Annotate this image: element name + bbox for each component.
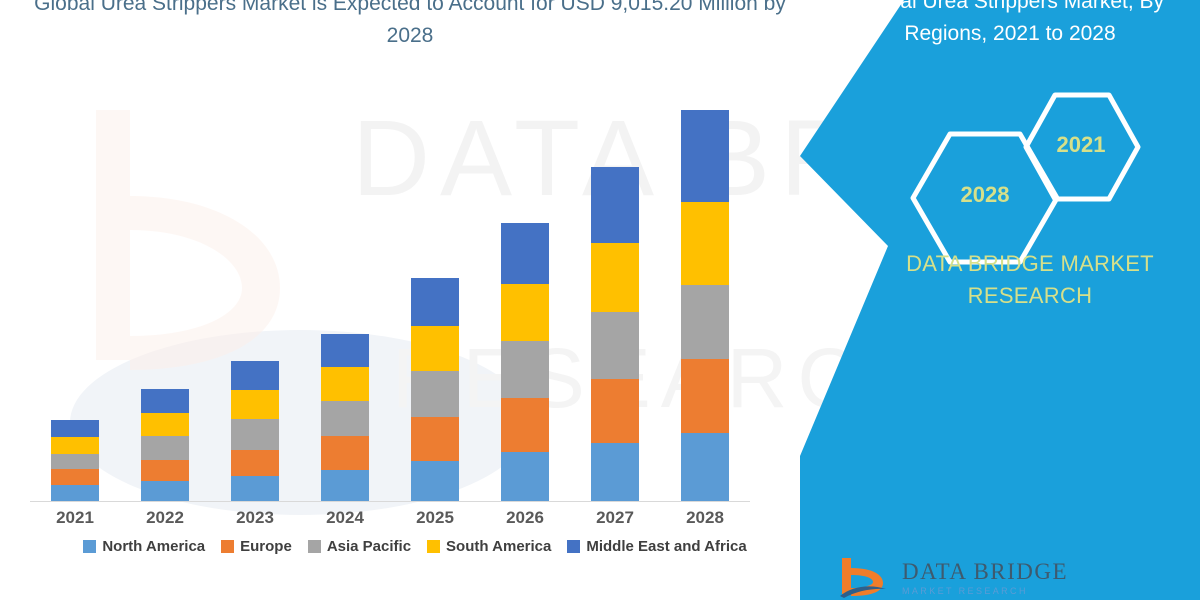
x-axis-labels: 20212022202320242025202620272028: [30, 508, 750, 528]
brand-tagline-line2: RESEARCH: [880, 280, 1180, 312]
legend-label: Middle East and Africa: [586, 538, 746, 555]
bar-segment: [591, 312, 639, 379]
bar-segment: [141, 460, 189, 481]
x-axis-label: 2021: [30, 508, 120, 528]
bar-segment: [231, 476, 279, 501]
infographic-root: DATA BRIDGE RESEARCH Global Urea Strippe…: [0, 0, 1200, 600]
x-axis-label: 2023: [210, 508, 300, 528]
bar-segment: [501, 284, 549, 341]
legend-swatch-icon: [308, 540, 321, 553]
bar-segment: [591, 167, 639, 243]
stacked-bar: [141, 389, 189, 501]
footer-brand-subtitle: MARKET RESEARCH: [902, 587, 1068, 596]
x-axis-label: 2022: [120, 508, 210, 528]
bar-segment: [141, 436, 189, 459]
legend-swatch-icon: [427, 540, 440, 553]
legend-label: South America: [446, 538, 551, 555]
bar-segment: [51, 420, 99, 438]
bar-segment: [591, 243, 639, 312]
bar-segment: [681, 433, 729, 501]
x-axis-label: 2024: [300, 508, 390, 528]
stacked-bar: [231, 361, 279, 501]
bar-column: [300, 110, 390, 501]
bar-chart-plot-area: [30, 110, 750, 501]
legend-label: North America: [102, 538, 205, 555]
legend-swatch-icon: [221, 540, 234, 553]
bar-column: [570, 110, 660, 501]
legend-swatch-icon: [567, 540, 580, 553]
bar-segment: [411, 326, 459, 372]
bar-segment: [51, 485, 99, 501]
stacked-bar: [411, 278, 459, 501]
bar-segment: [501, 223, 549, 284]
legend-label: Europe: [240, 538, 292, 555]
chart-panel: Global Urea Strippers Market is Expected…: [0, 0, 830, 600]
bar-column: [390, 110, 480, 501]
stacked-bar: [51, 420, 99, 502]
bar-segment: [411, 278, 459, 326]
bar-segment: [321, 470, 369, 501]
chart-axis-line: [30, 501, 750, 502]
bar-segment: [681, 285, 729, 359]
bar-segment: [141, 413, 189, 436]
bar-segment: [321, 401, 369, 437]
x-axis-label: 2025: [390, 508, 480, 528]
x-axis-label: 2027: [570, 508, 660, 528]
bar-segment: [51, 454, 99, 469]
bar-segment: [51, 469, 99, 486]
legend-item[interactable]: Europe: [221, 538, 292, 555]
bar-segment: [411, 371, 459, 417]
bar-segment: [231, 390, 279, 419]
bar-segment: [51, 437, 99, 454]
stacked-bar: [591, 167, 639, 501]
chart-legend: North AmericaEuropeAsia PacificSouth Ame…: [30, 538, 800, 555]
bar-segment: [591, 379, 639, 443]
chart-title: Global Urea Strippers Market is Expected…: [30, 0, 790, 52]
bar-segment: [501, 398, 549, 452]
legend-label: Asia Pacific: [327, 538, 411, 555]
bar-segment: [231, 419, 279, 449]
legend-item[interactable]: North America: [83, 538, 205, 555]
bar-segment: [231, 450, 279, 477]
legend-item[interactable]: Middle East and Africa: [567, 538, 746, 555]
legend-item[interactable]: South America: [427, 538, 551, 555]
hexagon-2028-label: 2028: [927, 182, 1043, 208]
bar-column: [480, 110, 570, 501]
bar-column: [660, 110, 750, 501]
x-axis-label: 2028: [660, 508, 750, 528]
footer-brand-name: DATA BRIDGE: [902, 560, 1068, 583]
bar-segment: [411, 417, 459, 461]
databridge-logo-icon: [838, 556, 890, 600]
stacked-bar: [681, 110, 729, 501]
brand-tagline: DATA BRIDGE MARKET RESEARCH: [880, 248, 1180, 312]
right-panel-title: Global Urea Strippers Market, By Regions…: [820, 0, 1200, 50]
bar-segment: [231, 361, 279, 390]
bar-segment: [501, 341, 549, 398]
bar-column: [30, 110, 120, 501]
x-axis-label: 2026: [480, 508, 570, 528]
bar-segment: [681, 359, 729, 433]
brand-tagline-line1: DATA BRIDGE MARKET: [880, 248, 1180, 280]
bar-segment: [591, 443, 639, 501]
stacked-bar: [501, 223, 549, 501]
legend-item[interactable]: Asia Pacific: [308, 538, 411, 555]
legend-swatch-icon: [83, 540, 96, 553]
bar-segment: [321, 334, 369, 368]
bar-segment: [681, 110, 729, 202]
footer-logo: DATA BRIDGE MARKET RESEARCH: [838, 556, 1178, 600]
hexagon-group: 2028 2021: [905, 88, 1185, 238]
bar-column: [120, 110, 210, 501]
bar-segment: [681, 202, 729, 286]
bar-segment: [141, 481, 189, 501]
footer-logo-words: DATA BRIDGE MARKET RESEARCH: [902, 560, 1068, 596]
bar-column: [210, 110, 300, 501]
bar-segment: [321, 367, 369, 401]
hexagon-2021-label: 2021: [1032, 132, 1130, 158]
stacked-bar: [321, 334, 369, 502]
bar-segment: [501, 452, 549, 501]
bar-segment: [321, 436, 369, 470]
bar-segment: [411, 461, 459, 501]
bar-segment: [141, 389, 189, 412]
